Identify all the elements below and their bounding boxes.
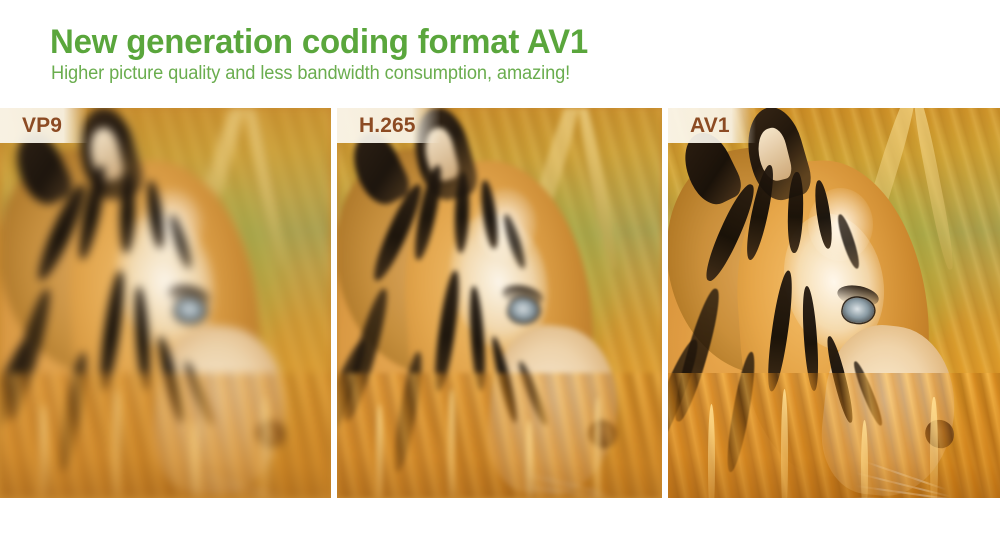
codec-badge-av1: AV1 (668, 108, 756, 143)
foreground-grass (668, 373, 1000, 498)
codec-badge-label: VP9 (22, 114, 62, 138)
tiger-image-av1 (668, 108, 1000, 498)
codec-badge-h265: H.265 (337, 108, 441, 143)
foreground-grass (337, 373, 662, 498)
header: New generation coding format AV1 Higher … (0, 0, 1000, 108)
codec-badge-label: AV1 (690, 114, 730, 138)
codec-comparison-strip: VP9 (0, 108, 1000, 498)
page-title: New generation coding format AV1 (50, 22, 588, 62)
page-subtitle: Higher picture quality and less bandwidt… (51, 62, 570, 86)
codec-badge-label: H.265 (359, 114, 416, 138)
foreground-grass (0, 373, 331, 498)
codec-panel-vp9[interactable]: VP9 (0, 108, 331, 498)
codec-badge-vp9: VP9 (0, 108, 88, 143)
tiger-image-h265 (337, 108, 662, 498)
tiger-image-vp9 (0, 108, 331, 498)
av1-comparison-banner: New generation coding format AV1 Higher … (0, 0, 1000, 533)
codec-panel-h265[interactable]: H.265 (337, 108, 662, 498)
codec-panel-av1[interactable]: AV1 (668, 108, 1000, 498)
